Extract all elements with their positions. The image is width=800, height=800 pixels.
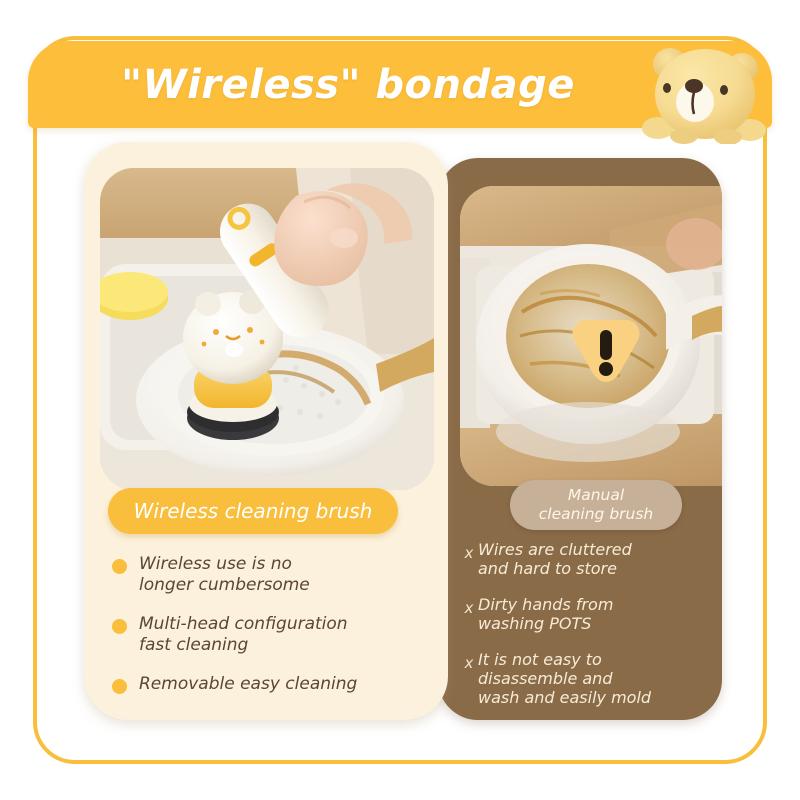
cross-mark-icon: x bbox=[460, 650, 478, 673]
list-item: Removable easy cleaning bbox=[112, 674, 442, 695]
manual-brush-badge-label: Manual cleaning brush bbox=[539, 486, 654, 524]
con-text: It is not easy to disassemble and wash a… bbox=[478, 650, 651, 707]
cross-mark-icon: x bbox=[460, 595, 478, 618]
pro-text: Multi-head configuration fast cleaning bbox=[139, 614, 348, 656]
manual-brush-badge: Manual cleaning brush bbox=[510, 480, 682, 530]
bullet-dot-icon bbox=[112, 559, 127, 574]
cross-mark-icon: x bbox=[460, 540, 478, 563]
list-item: Multi-head configuration fast cleaning bbox=[112, 614, 442, 656]
pro-text: Removable easy cleaning bbox=[139, 674, 357, 695]
wireless-brush-panel: Wireless cleaning brush Wireless use is … bbox=[84, 142, 448, 720]
list-item: x Wires are cluttered and hard to store bbox=[460, 540, 710, 578]
con-text: Dirty hands from washing POTS bbox=[478, 595, 613, 633]
con-text: Wires are cluttered and hard to store bbox=[478, 540, 632, 578]
page-title: "Wireless" bondage bbox=[28, 41, 668, 128]
list-item: x Dirty hands from washing POTS bbox=[460, 595, 710, 633]
list-item: x It is not easy to disassemble and wash… bbox=[460, 650, 710, 707]
bullet-dot-icon bbox=[112, 619, 127, 634]
wireless-brush-illustration bbox=[100, 168, 434, 490]
wireless-brush-photo bbox=[100, 168, 434, 490]
bullet-dot-icon bbox=[112, 679, 127, 694]
manual-brush-panel: Manual cleaning brush x Wires are clutte… bbox=[438, 158, 722, 720]
wireless-brush-badge: Wireless cleaning brush bbox=[108, 488, 398, 534]
pro-text: Wireless use is no longer cumbersome bbox=[139, 554, 310, 596]
bear-mascot-icon bbox=[636, 38, 772, 144]
warning-triangle-icon bbox=[568, 314, 644, 386]
list-item: Wireless use is no longer cumbersome bbox=[112, 554, 442, 596]
wireless-brush-badge-label: Wireless cleaning brush bbox=[134, 499, 373, 523]
infographic-root: Manual cleaning brush x Wires are clutte… bbox=[0, 0, 800, 800]
cons-list: x Wires are cluttered and hard to store … bbox=[460, 540, 710, 720]
pros-list: Wireless use is no longer cumbersome Mul… bbox=[112, 554, 442, 713]
